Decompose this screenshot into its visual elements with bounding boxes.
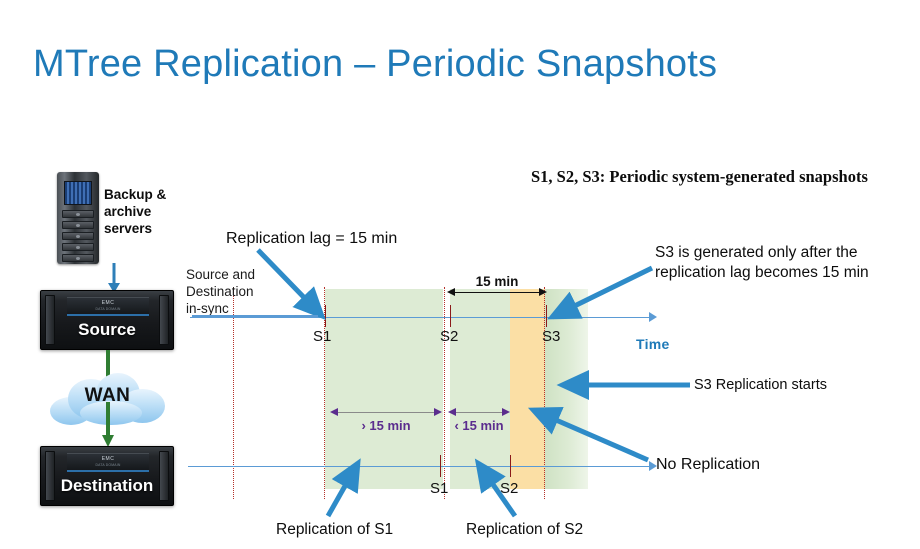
source-faceplate: EMCDATA DOMAIN — [67, 297, 149, 316]
replication-lag-note: Replication lag = 15 min — [226, 230, 397, 248]
backup-servers-label: Backup & archive servers — [104, 186, 184, 237]
destination-faceplate: EMCDATA DOMAIN — [67, 453, 149, 472]
guide-line-s2 — [444, 287, 445, 499]
replication-of-s2-note: Replication of S2 — [466, 521, 583, 539]
no-replication-note: No Replication — [656, 456, 760, 474]
arrow-tower-to-source-icon — [107, 263, 121, 293]
backup-servers-label-line-1: Backup & — [104, 186, 184, 203]
band-replication-of-s1 — [325, 289, 443, 489]
time-axis-label: Time — [636, 336, 670, 352]
in-sync-note-line-3: in-sync — [186, 300, 266, 317]
measure-greater-than-15-min-label: › 15 min — [330, 418, 442, 433]
tick-label-s3-source: S3 — [542, 328, 560, 345]
tick-s2-destination — [510, 455, 511, 477]
tick-label-s2-source: S2 — [440, 328, 458, 345]
band-replication-of-s2 — [450, 289, 510, 489]
destination-appliance: EMCDATA DOMAIN Destination — [40, 446, 174, 506]
measure-15-min — [447, 292, 547, 293]
tick-label-s2-destination: S2 — [500, 480, 518, 497]
arrow-wan-to-destination-icon — [101, 402, 115, 448]
source-appliance: EMCDATA DOMAIN Source — [40, 290, 174, 350]
s3-generated-note: S3 is generated only after the replicati… — [655, 243, 905, 283]
s3-replication-starts-note: S3 Replication starts — [694, 377, 827, 393]
band-no-replication — [510, 289, 545, 489]
tick-label-s1-source: S1 — [313, 328, 331, 345]
tick-s3-source — [546, 305, 547, 327]
guide-line-s3 — [544, 287, 545, 499]
backup-servers-label-line-2: archive — [104, 203, 184, 220]
legend-note: S1, S2, S3: Periodic system-generated sn… — [531, 165, 901, 188]
destination-label: Destination — [41, 476, 173, 496]
source-label: Source — [41, 320, 173, 340]
timeline-source — [190, 317, 649, 318]
page-title: MTree Replication – Periodic Snapshots — [33, 42, 717, 86]
band-s3-replication — [545, 289, 588, 489]
timeline-destination — [188, 466, 649, 467]
callout-arrow-replication-lag — [258, 250, 322, 316]
backup-server-tower-icon — [57, 172, 99, 264]
backup-servers-label-line-3: servers — [104, 220, 184, 237]
timeline-source-arrowhead-icon — [649, 312, 657, 322]
measure-greater-than-15-min — [330, 412, 442, 413]
tower-drive-array — [64, 181, 92, 205]
measure-less-than-15-min — [448, 412, 510, 413]
tick-s1-source — [325, 305, 326, 327]
tick-s1-destination — [440, 455, 441, 477]
in-sync-note-line-2: Destination — [186, 283, 266, 300]
in-sync-note-line-1: Source and — [186, 266, 266, 283]
replication-of-s1-note: Replication of S1 — [276, 521, 393, 539]
slide-canvas: MTree Replication – Periodic Snapshots B… — [0, 0, 920, 549]
measure-less-than-15-min-label: ‹ 15 min — [444, 418, 514, 433]
guide-line-start — [233, 287, 234, 499]
in-sync-note: Source and Destination in-sync — [186, 266, 266, 317]
tick-s2-source — [450, 305, 451, 327]
tick-label-s1-destination: S1 — [430, 480, 448, 497]
measure-15-min-label: 15 min — [447, 274, 547, 289]
